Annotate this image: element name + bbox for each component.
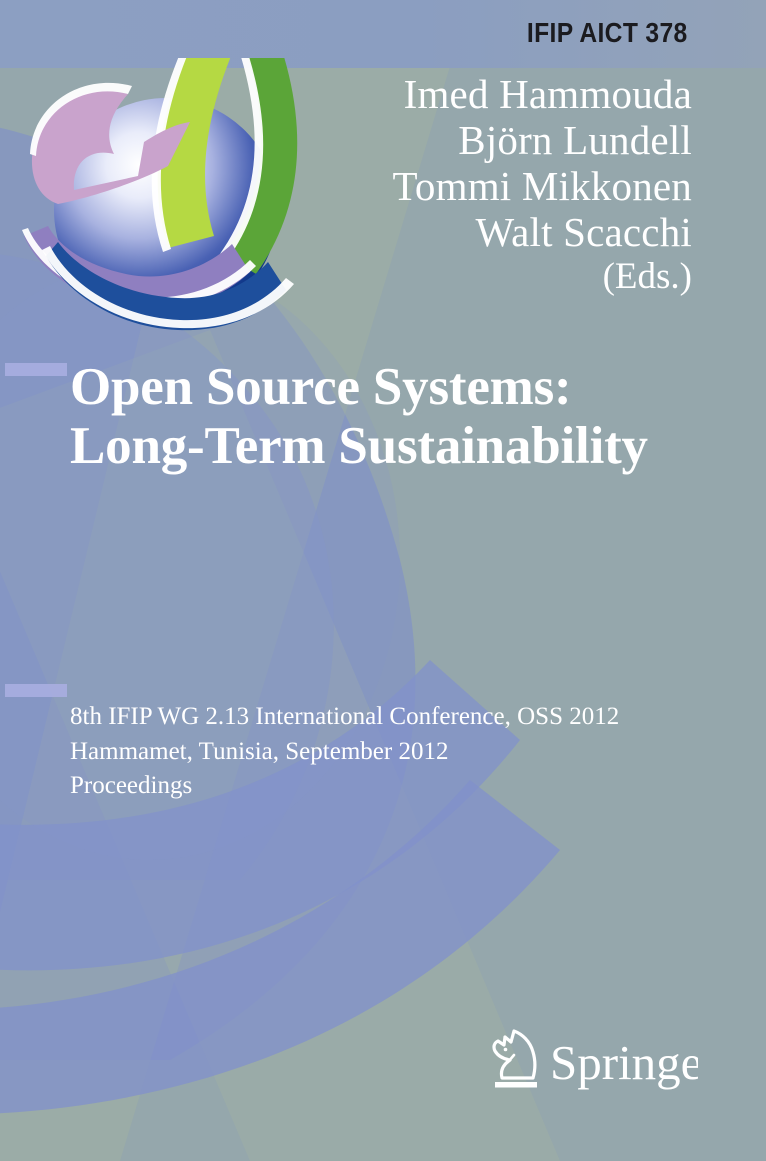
title-line-2: Long-Term Sustainability	[70, 417, 648, 476]
left-marker-bar-top	[5, 363, 67, 376]
springer-knight-base	[495, 1082, 537, 1088]
editor-name: Walt Scacchi	[393, 212, 692, 253]
editors-role: (Eds.)	[393, 258, 692, 295]
subtitle-line-1: 8th IFIP WG 2.13 International Conferenc…	[70, 700, 619, 735]
book-cover: IFIP AICT 378	[0, 0, 766, 1161]
springer-knight-icon	[494, 1031, 535, 1078]
editor-name: Björn Lundell	[393, 120, 692, 161]
book-subtitle: 8th IFIP WG 2.13 International Conferenc…	[70, 700, 619, 804]
editor-name: Imed Hammouda	[393, 74, 692, 115]
left-marker-bar-bottom	[5, 684, 67, 697]
series-label: IFIP AICT 378	[527, 17, 688, 49]
springer-wordmark: Springer	[550, 1035, 698, 1090]
subtitle-line-2: Hammamet, Tunisia, September 2012	[70, 735, 619, 770]
title-line-1: Open Source Systems:	[70, 358, 648, 417]
editors-block: Imed Hammouda Björn Lundell Tommi Mikkon…	[393, 74, 692, 295]
book-title: Open Source Systems: Long-Term Sustainab…	[70, 358, 648, 477]
subtitle-line-3: Proceedings	[70, 769, 619, 804]
ifip-globe-logo	[18, 58, 310, 348]
editor-name: Tommi Mikkonen	[393, 166, 692, 207]
springer-logo: Springer	[478, 1022, 698, 1098]
